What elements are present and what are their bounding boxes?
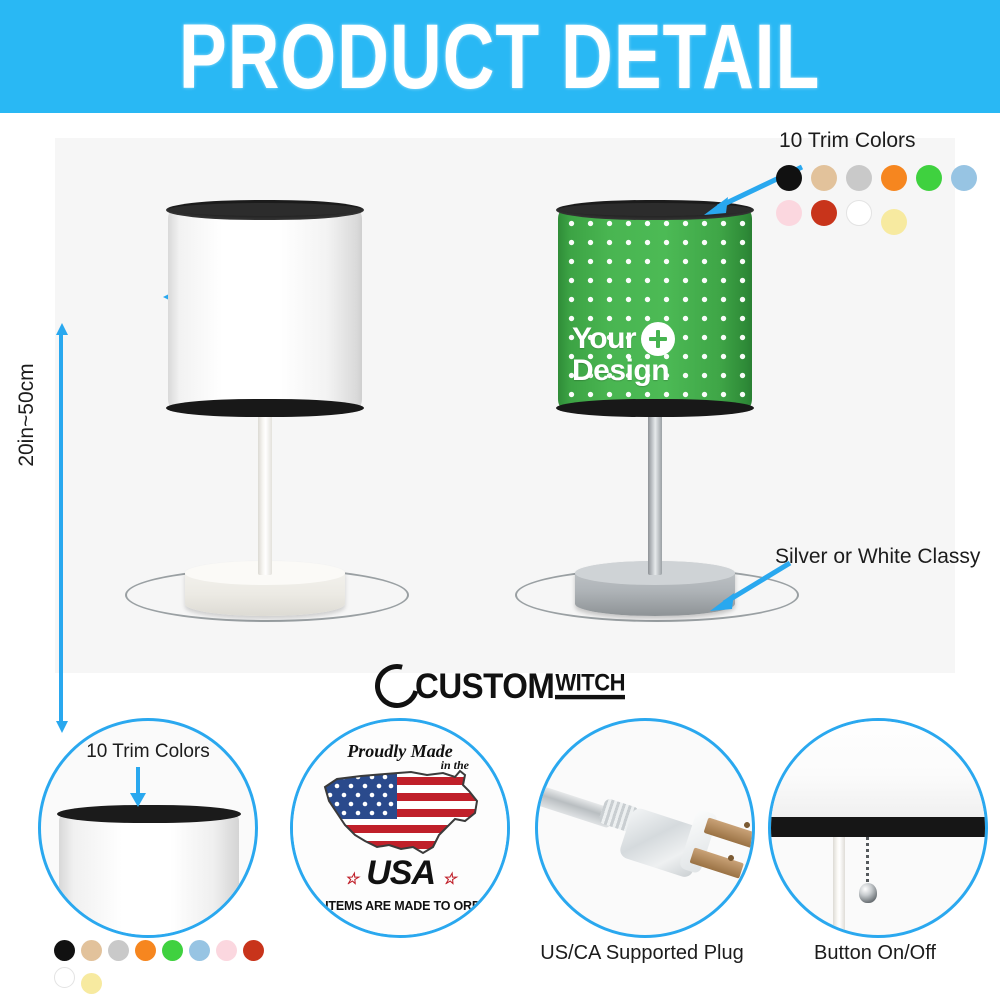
base-finish-callout-arrow: [690, 555, 800, 615]
swatch-pale-yellow[interactable]: [81, 973, 102, 994]
feature-trim-colors-arrow: [125, 765, 151, 809]
swatch-light-blue[interactable]: [951, 165, 977, 191]
feature-button-onoff: Button On/Off: [760, 718, 990, 998]
base-finish-callout-label: Silver or White Classy: [775, 545, 980, 569]
feature-highlights-row: 10 Trim Colors: [0, 708, 1000, 1000]
your-design-line1: Your: [572, 324, 636, 353]
pull-chain-closeup[interactable]: [866, 837, 869, 889]
shade-top-trim: [166, 200, 364, 220]
feature-trim-colors: 10 Trim Colors: [38, 718, 258, 998]
swatch-pink[interactable]: [216, 940, 237, 961]
swatch-gray[interactable]: [846, 165, 872, 191]
product-detail-page: PRODUCT DETAIL 7in~18cm 20in~50cm: [0, 0, 1000, 1000]
usa-badge: Proudly Made in the: [293, 721, 507, 935]
swatch-black[interactable]: [776, 165, 802, 191]
your-design-placeholder[interactable]: Your Design: [572, 322, 742, 385]
swatch-orange[interactable]: [135, 940, 156, 961]
swatch-white[interactable]: [846, 200, 872, 226]
trim-colors-callout-label: 10 Trim Colors: [779, 129, 916, 153]
shade-bottom-trim: [556, 399, 754, 417]
swatch-light-blue[interactable]: [189, 940, 210, 961]
shade-bottom-trim: [166, 399, 364, 417]
usa-badge-heading: Proudly Made in the: [293, 741, 507, 762]
logo-primary-text: CUSTOM: [415, 665, 554, 706]
logo-secondary-text: WITCH: [555, 670, 625, 699]
lamp-shade: Your Design: [558, 209, 752, 409]
shade-surface: Your Design: [558, 209, 752, 409]
swatch-brick-red[interactable]: [811, 200, 837, 226]
shade-closeup-surface: [59, 813, 239, 938]
star-right-icon: ☆: [442, 871, 455, 888]
lamp-stem-closeup: [833, 837, 845, 938]
shade-bottom-trim-bar: [768, 817, 988, 837]
shade-surface: [168, 209, 362, 409]
swatch-green[interactable]: [162, 940, 183, 961]
feature-trim-colors-label: 10 Trim Colors: [41, 741, 255, 763]
plug-prong-hole-upper: [743, 821, 751, 829]
star-left-icon: ☆: [344, 871, 357, 888]
feature-plug-label: US/CA Supported Plug: [520, 942, 764, 965]
usa-country-text: ☆ USA ☆: [293, 854, 507, 893]
feature-circle: [768, 718, 988, 938]
main-product-stage: 7in~18cm 20in~50cm: [0, 113, 1000, 713]
feature-button-label: Button On/Off: [760, 942, 990, 965]
feature-circle: Proudly Made in the: [290, 718, 510, 938]
usa-label: USA: [366, 854, 434, 892]
swatch-tan[interactable]: [81, 940, 102, 961]
swatch-pink[interactable]: [776, 200, 802, 226]
feature-circle: 10 Trim Colors: [38, 718, 258, 938]
lamp-left-white: [150, 193, 380, 633]
shade-bottom-surface: [768, 718, 988, 817]
swatch-gray[interactable]: [108, 940, 129, 961]
trim-color-swatches-top: [776, 165, 1000, 235]
lamp-shade: [168, 209, 362, 409]
feature-plug: US/CA Supported Plug: [520, 718, 760, 998]
plug-prong-lower: [690, 847, 744, 878]
shade-top-trim-inner: [169, 203, 361, 216]
swatch-pale-yellow[interactable]: [881, 209, 907, 235]
feature-made-in-usa: Proudly Made in the: [290, 718, 510, 998]
usa-map-flag-icon: [315, 761, 487, 865]
swatch-green[interactable]: [916, 165, 942, 191]
plus-icon[interactable]: [641, 322, 675, 356]
usa-subtitle: ALL ITEMS ARE MADE TO ORDER!: [293, 899, 507, 913]
swatch-brick-red[interactable]: [243, 940, 264, 961]
pull-chain-knob-closeup[interactable]: [859, 883, 877, 903]
page-header-banner: PRODUCT DETAIL: [0, 0, 1000, 113]
swatch-black[interactable]: [54, 940, 75, 961]
page-title: PRODUCT DETAIL: [179, 3, 820, 110]
swatch-white[interactable]: [54, 967, 75, 988]
trim-color-swatches-bottom: [54, 940, 264, 994]
swatch-orange[interactable]: [881, 165, 907, 191]
your-design-line2: Design: [572, 356, 742, 385]
height-dimension-label: 20in~50cm: [15, 330, 39, 500]
swatch-tan[interactable]: [811, 165, 837, 191]
brand-logo: CUSTOM WITCH: [0, 663, 1000, 708]
usa-proudly-text: Proudly Made: [347, 741, 453, 761]
feature-circle: [535, 718, 755, 938]
